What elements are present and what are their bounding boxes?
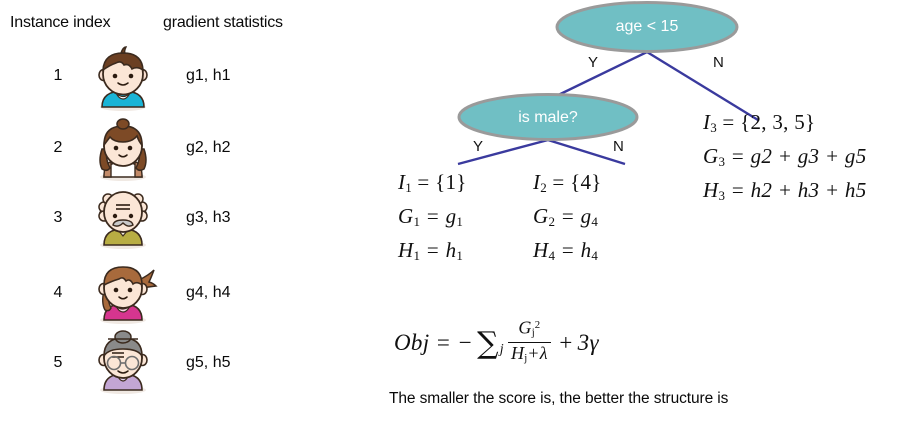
edge-label-ismale-yes: Y	[473, 138, 483, 155]
table-row: 2 g2, h2	[0, 115, 330, 183]
leaf-line: H1 = h1	[398, 236, 467, 270]
leaf-statistics-block-2: I2 = {4} G2 = g4 H4 = h4	[533, 168, 602, 270]
column-header-gradient-statistics: gradient statistics	[163, 14, 283, 32]
old-man-mustache-bald-avatar	[88, 183, 158, 249]
tree-node-root-label: age < 15	[557, 18, 737, 36]
fraction-denominator: Hj+λ	[508, 342, 551, 368]
fraction-numerator: Gj2	[515, 317, 543, 342]
tree-edge-ismale-yes	[458, 140, 548, 164]
leaf-line: G3 = g2 + g3 + g5	[703, 142, 867, 176]
leaf-line-rhs-sum: = g2 + g3 + g5	[731, 144, 867, 168]
objective-equals: =	[435, 330, 451, 356]
girl-ponytail-pink-shirt-avatar	[88, 258, 158, 324]
objective-minus: −	[457, 330, 473, 356]
objective-fraction: Gj2 Hj+λ	[508, 317, 551, 368]
row-index-label: 5	[46, 354, 70, 372]
column-header-instance-index: Instance index	[10, 14, 110, 32]
summation-index: j	[500, 342, 504, 358]
row-index-label: 4	[46, 284, 70, 302]
row-index-label: 2	[46, 139, 70, 157]
edge-label-root-no: N	[713, 54, 724, 71]
row-gradient-stats: g1, h1	[186, 67, 230, 85]
table-row: 3 g3, h3	[0, 183, 330, 251]
row-index-label: 3	[46, 209, 70, 227]
row-gradient-stats: g2, h2	[186, 139, 230, 157]
edge-label-ismale-no: N	[613, 138, 624, 155]
leaf-line: H4 = h4	[533, 236, 602, 270]
objective-plus: +	[558, 330, 574, 356]
old-woman-gray-bun-glasses-avatar	[88, 328, 158, 394]
leaf-line: G2 = g4	[533, 202, 602, 236]
objective-formula: Obj = − ∑j Gj2 Hj+λ + 3γ	[394, 318, 599, 369]
row-gradient-stats: g5, h5	[186, 354, 230, 372]
leaf-line: I1 = {1}	[398, 168, 467, 202]
row-gradient-stats: g4, h4	[186, 284, 230, 302]
leaf-line-rhs-sum: = h2 + h3 + h5	[731, 178, 867, 202]
summation-sigma-icon: ∑	[477, 329, 499, 359]
leaf-statistics-block-1: I1 = {1} G1 = g1 H1 = h1	[398, 168, 467, 270]
leaf-line: H3 = h2 + h3 + h5	[703, 176, 867, 210]
leaf-statistics-block-3: I3 = {2, 3, 5} G3 = g2 + g3 + g5 H3 = h2…	[703, 108, 867, 210]
row-index-label: 1	[46, 67, 70, 85]
girl-brown-long-hair-avatar	[88, 115, 158, 181]
row-gradient-stats: g3, h3	[186, 209, 230, 227]
edge-label-root-yes: Y	[588, 54, 598, 71]
caption-text: The smaller the score is, the better the…	[389, 390, 728, 408]
table-row: 5 g5, h5	[0, 328, 330, 396]
boy-blue-shirt-brown-hair-avatar	[88, 45, 158, 111]
table-row: 4 g4, h4	[0, 258, 330, 326]
leaf-line: G1 = g1	[398, 202, 467, 236]
leaf-line: I3 = {2, 3, 5}	[703, 108, 867, 142]
objective-lhs: Obj	[394, 330, 429, 356]
objective-tail: 3γ	[578, 330, 599, 356]
figure-canvas: Instance index gradient statistics 1 g1,…	[0, 0, 920, 421]
leaf-line: I2 = {4}	[533, 168, 602, 202]
tree-node-is-male-label: is male?	[458, 109, 638, 127]
table-row: 1 g1, h1	[0, 45, 330, 113]
